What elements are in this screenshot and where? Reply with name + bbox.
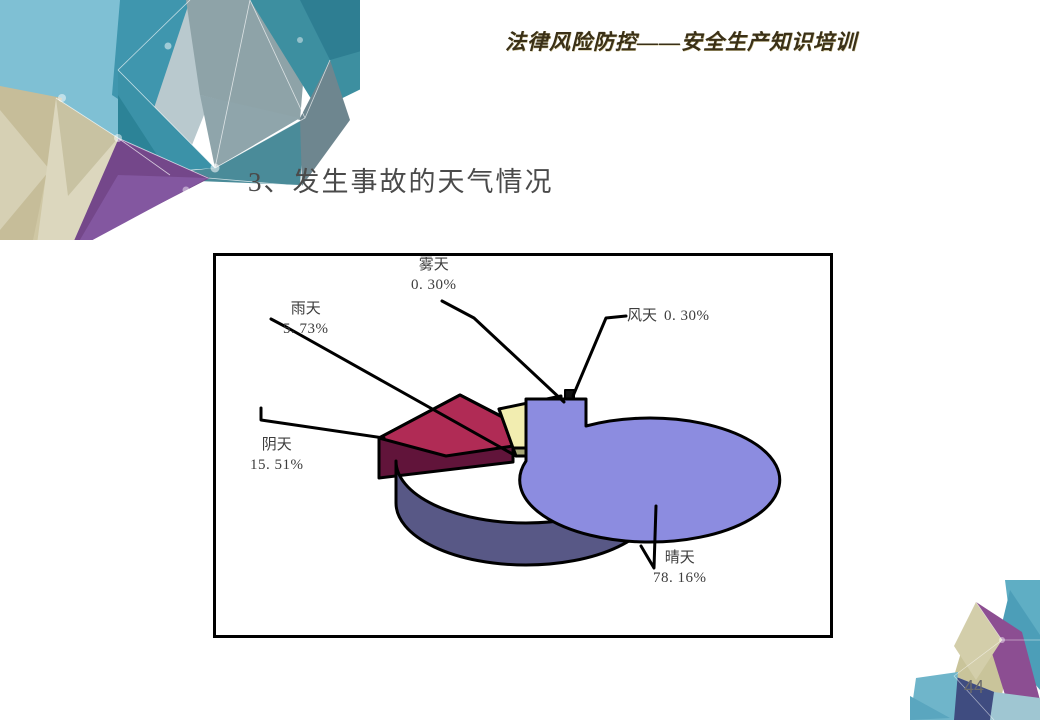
pie-label-rain: 雨天 5. 73% [283,299,329,340]
pie-label-sunny-value: 78. 16% [653,568,707,588]
page-number: 44 [964,677,984,698]
chart-container: 雾天 0. 30% 雨天 5. 73% 风天 0. 30% 阴天 15. 51%… [213,253,833,638]
slide: 法律风险防控——安全生产知识培训 3、发生事故的天气情况 [0,0,1040,720]
pie-label-cloudy-value: 15. 51% [250,455,304,475]
header-title: 法律风险防控——安全生产知识培训 [505,26,857,56]
leader-line-cloudy [261,408,384,438]
pie-label-wind-value: 0. 30% [664,306,710,326]
pie-label-fog-name: 雾天 [411,255,457,275]
page-title: 3、发生事故的天气情况 [248,160,554,199]
pie-label-rain-name: 雨天 [283,299,329,319]
pie-label-sunny: 晴天 78. 16% [653,548,707,589]
pie-label-sunny-name: 晴天 [653,548,707,568]
polygon-decoration-icon [0,0,360,240]
pie-label-fog: 雾天 0. 30% [411,255,457,296]
pie-label-rain-value: 5. 73% [283,319,329,339]
pie-slice-top-sunny [520,399,780,542]
polygon-decoration-icon [910,580,1040,720]
pie-label-fog-value: 0. 30% [411,275,457,295]
pie-label-cloudy-name: 阴天 [250,435,304,455]
leader-line-wind [573,316,626,396]
leader-line-fog [442,301,564,402]
pie-label-cloudy: 阴天 15. 51% [250,435,304,476]
pie-label-wind: 风天 0. 30% [627,306,710,326]
pie-label-wind-name: 风天 [627,306,657,326]
